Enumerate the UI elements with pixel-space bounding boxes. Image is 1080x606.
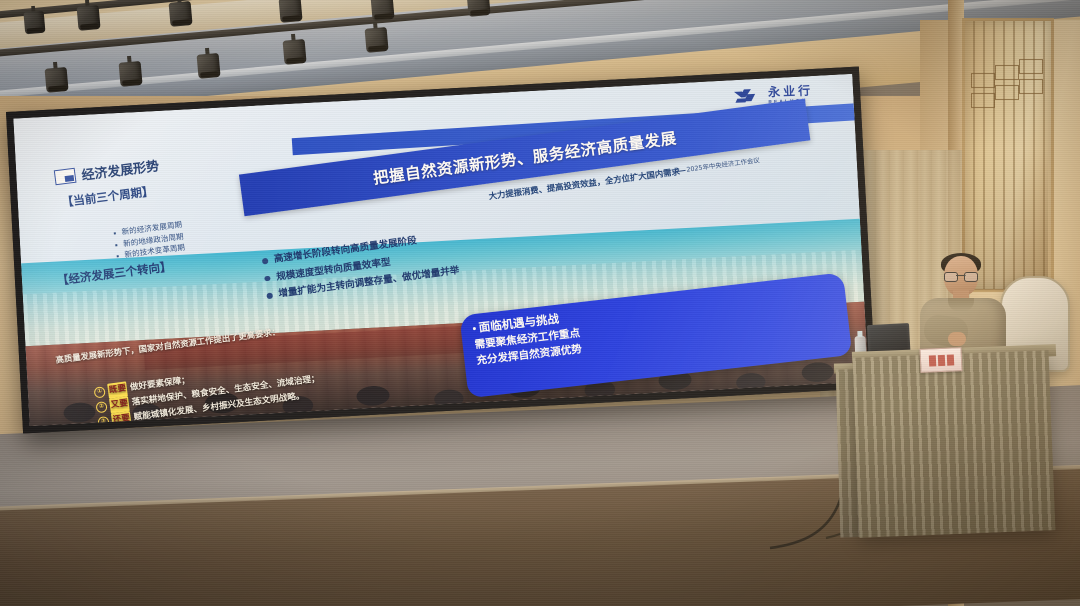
stage-light-icon <box>23 5 46 34</box>
stage-light-icon <box>44 61 69 93</box>
item-number: ① <box>93 386 105 398</box>
stage-light-icon <box>196 47 221 79</box>
yy-monogram-icon <box>733 88 764 105</box>
stage-light-icon <box>282 33 307 65</box>
item-highlight: 还要 <box>111 411 132 426</box>
stage-light-icon <box>370 0 395 21</box>
stage-light-icon <box>168 0 193 27</box>
item-number: ③ <box>97 416 109 426</box>
presenter-hand <box>948 332 966 346</box>
slide-marker-icon <box>54 168 77 186</box>
name-card <box>919 347 962 373</box>
item-number: ② <box>95 401 107 413</box>
glasses-icon <box>944 272 978 280</box>
stage-light-icon <box>278 0 303 23</box>
stage-light-icon <box>466 0 491 17</box>
stage-light-icon <box>118 55 143 87</box>
led-screen[interactable]: 永业行 REALHOM 把握自然资源新形势、服务经济高质量发展 2025年中央经… <box>6 67 876 434</box>
conference-room: 永业行 REALHOM 把握自然资源新形势、服务经济高质量发展 2025年中央经… <box>0 0 1080 606</box>
table-skirt <box>853 350 1056 537</box>
slide-surface: 永业行 REALHOM 把握自然资源新形势、服务经济高质量发展 2025年中央经… <box>13 74 868 426</box>
stage-light-icon <box>76 0 101 31</box>
logo-chinese-name: 永业行 <box>767 84 812 98</box>
stage-light-icon <box>364 21 389 53</box>
screenshot-root: 永业行 REALHOM 把握自然资源新形势、服务经济高质量发展 2025年中央经… <box>0 0 1080 606</box>
